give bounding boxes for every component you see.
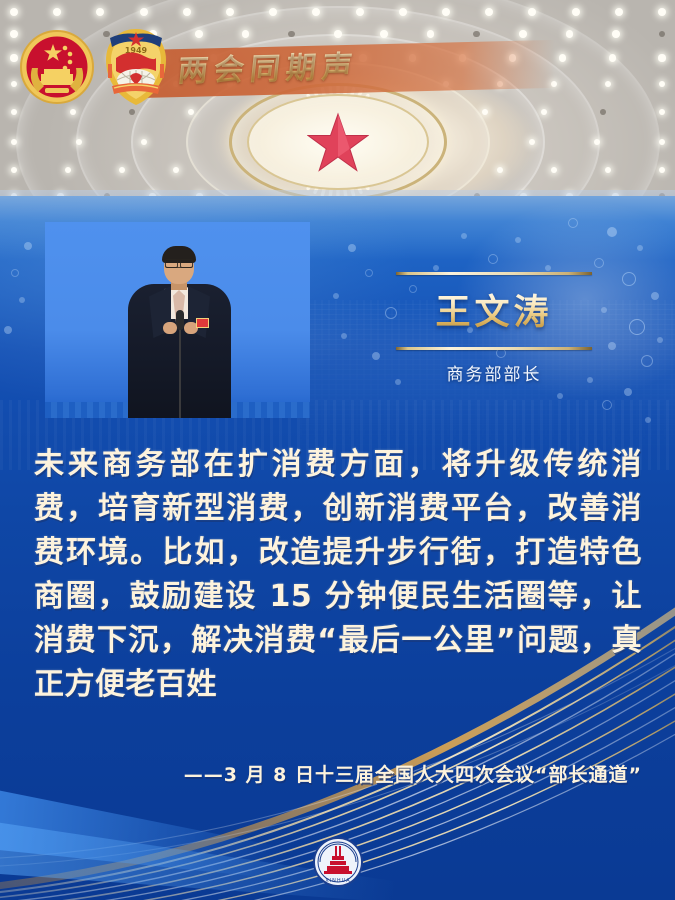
poster-root: 1949 两会同期声 bbox=[0, 0, 675, 900]
name-rule-bottom bbox=[396, 347, 592, 350]
photo-microphone bbox=[176, 310, 184, 330]
xinhua-logo-icon: XINHUA bbox=[312, 836, 364, 888]
photo-delegate-badge bbox=[196, 318, 209, 328]
photo-glasses bbox=[165, 259, 193, 268]
name-rule-top bbox=[396, 272, 592, 275]
speaker-photo bbox=[45, 222, 310, 418]
photo-mic-stand bbox=[179, 326, 181, 418]
speaker-role: 商务部部长 bbox=[396, 362, 592, 388]
speaker-name: 王文涛 bbox=[396, 288, 592, 338]
svg-text:XINHUA: XINHUA bbox=[325, 878, 350, 884]
quote-attribution: ——3 月 8 日十三届全国人大四次会议“部长通道” bbox=[34, 760, 642, 787]
quote-text: 未来商务部在扩消费方面，将升级传统消费，培育新型消费，创新消费平台，改善消费环境… bbox=[34, 443, 642, 707]
national-emblem-icon bbox=[18, 28, 96, 106]
cppcc-emblem-icon: 1949 bbox=[100, 26, 172, 108]
header-banner-title: 两会同期声 bbox=[176, 45, 440, 93]
photo-hand-left bbox=[163, 322, 177, 334]
header: 1949 两会同期声 bbox=[0, 0, 675, 120]
